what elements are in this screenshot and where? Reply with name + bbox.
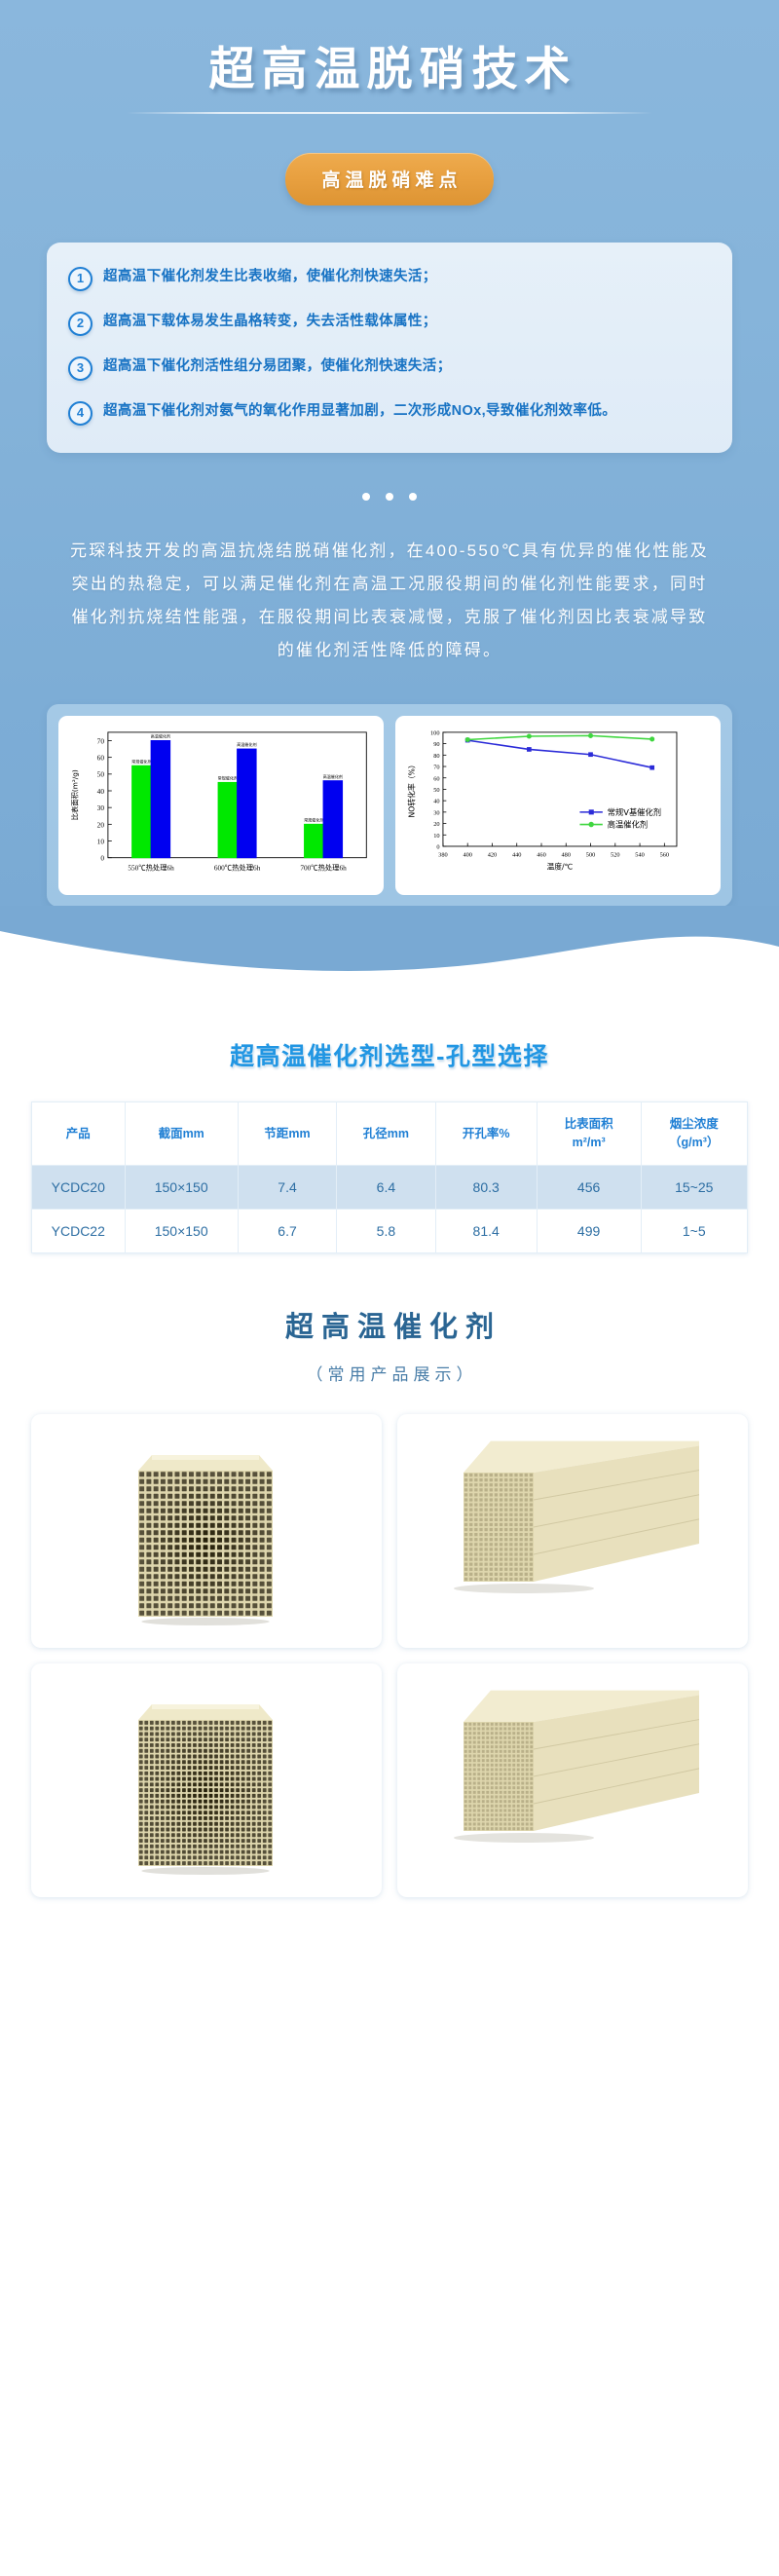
svg-text:高温催化剂: 高温催化剂 xyxy=(151,733,170,739)
product-image-card[interactable] xyxy=(397,1663,748,1897)
spec-table: 产品 截面mm 节距mm 孔径mm 开孔率% xyxy=(31,1101,748,1253)
infographic-page: 超高温脱硝技术 高温脱硝难点 1 超高温下催化剂发生比表收缩，使催化剂快速失活；… xyxy=(0,0,779,1897)
list-item-label: 超高温下载体易发生晶格转变，失去活性载体属性； xyxy=(103,311,437,333)
table-row[interactable]: YCDC20 150×150 7.4 6.4 80.3 456 15~25 xyxy=(32,1165,748,1209)
specific-surface-area-bar-chart: 010203040506070比表面积(m²/g)常规催化剂高温催化剂550℃热… xyxy=(64,724,378,889)
svg-text:10: 10 xyxy=(97,838,105,846)
svg-text:30: 30 xyxy=(433,810,439,817)
header-line: 比表面积 xyxy=(539,1115,639,1134)
spec-table-wrap: 产品 截面mm 节距mm 孔径mm 开孔率% xyxy=(31,1101,748,1253)
list-item-label: 超高温下催化剂发生比表收缩，使催化剂快速失活； xyxy=(103,266,437,288)
table-cell: 6.7 xyxy=(238,1209,336,1252)
svg-text:550℃热处理6h: 550℃热处理6h xyxy=(128,864,174,873)
svg-text:70: 70 xyxy=(97,737,105,746)
section-badge[interactable]: 高温脱硝难点 xyxy=(285,153,493,205)
dots-separator xyxy=(29,488,750,505)
lead-paragraph: 元琛科技开发的高温抗烧结脱硝催化剂，在400-550℃具有优异的催化性能及突出的… xyxy=(68,535,711,667)
svg-text:常规催化剂: 常规催化剂 xyxy=(218,775,238,781)
svg-text:高温催化剂: 高温催化剂 xyxy=(323,773,343,779)
spec-section: 超高温催化剂选型-孔型选择 产品 截面mm 节距mm xyxy=(0,998,779,1897)
table-header-cell: 截面mm xyxy=(125,1102,238,1166)
header-line: 产品 xyxy=(34,1125,123,1143)
list-item-number: 1 xyxy=(68,267,93,291)
product-section-title: 超高温催化剂 xyxy=(0,1304,779,1345)
table-cell: 5.8 xyxy=(337,1209,435,1252)
table-body: YCDC20 150×150 7.4 6.4 80.3 456 15~25 YC… xyxy=(32,1165,748,1252)
svg-text:100: 100 xyxy=(430,730,440,737)
table-header-cell: 烟尘浓度 （g/m³） xyxy=(641,1102,748,1166)
dot-icon xyxy=(409,493,417,501)
svg-text:80: 80 xyxy=(433,753,439,760)
svg-text:比表面积(m²/g): 比表面积(m²/g) xyxy=(71,769,80,820)
table-head: 产品 截面mm 节距mm 孔径mm 开孔率% xyxy=(32,1102,748,1166)
list-item-number: 4 xyxy=(68,401,93,426)
svg-text:40: 40 xyxy=(433,799,439,805)
svg-text:600℃热处理6h: 600℃热处理6h xyxy=(214,864,261,873)
svg-text:常规催化剂: 常规催化剂 xyxy=(304,817,323,823)
dot-icon xyxy=(362,493,370,501)
svg-text:400: 400 xyxy=(463,852,472,859)
svg-text:60: 60 xyxy=(97,754,105,763)
header-line: 截面mm xyxy=(128,1125,236,1143)
product-image-card[interactable] xyxy=(397,1414,748,1648)
table-cell: 80.3 xyxy=(435,1165,537,1209)
dot-icon xyxy=(386,493,393,501)
svg-text:460: 460 xyxy=(537,852,546,859)
list-item: 1 超高温下催化剂发生比表收缩，使催化剂快速失活； xyxy=(68,266,711,291)
svg-text:0: 0 xyxy=(436,844,439,851)
header-line: 孔径mm xyxy=(339,1125,432,1143)
product-grid xyxy=(31,1414,748,1897)
table-header-cell: 产品 xyxy=(32,1102,126,1166)
product-image-card[interactable] xyxy=(31,1663,382,1897)
svg-text:NO转化率（%）: NO转化率（%） xyxy=(407,762,417,818)
table-cell: 6.4 xyxy=(337,1165,435,1209)
svg-text:常规催化剂: 常规催化剂 xyxy=(131,759,151,765)
difficulty-list-card: 1 超高温下催化剂发生比表收缩，使催化剂快速失活； 2 超高温下载体易发生晶格转… xyxy=(47,243,732,453)
svg-text:480: 480 xyxy=(562,852,572,859)
table-cell: YCDC22 xyxy=(32,1209,126,1252)
svg-text:30: 30 xyxy=(97,803,105,812)
svg-text:700℃热处理6h: 700℃热处理6h xyxy=(300,864,347,873)
header-line: m²/m³ xyxy=(539,1134,639,1152)
list-item-number: 3 xyxy=(68,356,93,381)
honeycomb-angled-icon xyxy=(446,1434,699,1628)
table-header-cell: 比表面积 m²/m³ xyxy=(537,1102,641,1166)
honeycomb-front-icon xyxy=(109,1675,304,1885)
svg-text:520: 520 xyxy=(611,852,620,859)
svg-text:10: 10 xyxy=(433,833,439,840)
svg-text:70: 70 xyxy=(433,765,439,771)
svg-text:40: 40 xyxy=(97,787,105,796)
svg-text:0: 0 xyxy=(100,854,104,863)
svg-text:高温催化剂: 高温催化剂 xyxy=(237,741,256,747)
svg-text:温度/℃: 温度/℃ xyxy=(546,862,573,872)
list-item: 3 超高温下催化剂活性组分易团聚，使催化剂快速失活； xyxy=(68,355,711,381)
wave-divider xyxy=(0,906,779,998)
svg-text:50: 50 xyxy=(433,787,439,794)
spec-section-title: 超高温催化剂选型-孔型选择 xyxy=(0,1037,779,1072)
product-image-card[interactable] xyxy=(31,1414,382,1648)
table-row[interactable]: YCDC22 150×150 6.7 5.8 81.4 499 1~5 xyxy=(32,1209,748,1252)
table-header-cell: 开孔率% xyxy=(435,1102,537,1166)
list-item-label: 超高温下催化剂活性组分易团聚，使催化剂快速失活； xyxy=(103,355,452,378)
table-header-row: 产品 截面mm 节距mm 孔径mm 开孔率% xyxy=(32,1102,748,1166)
title-underline-rule xyxy=(127,112,652,114)
no-conversion-line-chart: 0102030405060708090100380400420440460480… xyxy=(401,724,715,889)
svg-text:90: 90 xyxy=(433,741,439,748)
svg-text:440: 440 xyxy=(512,852,522,859)
badge-container: 高温脱硝难点 xyxy=(29,153,750,205)
table-cell: 150×150 xyxy=(125,1209,238,1252)
list-item-label: 超高温下催化剂对氨气的氧化作用显著加剧，二次形成NOx,导致催化剂效率低。 xyxy=(103,400,616,423)
table-cell: YCDC20 xyxy=(32,1165,126,1209)
svg-text:560: 560 xyxy=(660,852,670,859)
table-cell: 15~25 xyxy=(641,1165,748,1209)
header-line: 烟尘浓度 xyxy=(644,1115,746,1134)
svg-text:500: 500 xyxy=(586,852,596,859)
list-item-number: 2 xyxy=(68,312,93,336)
table-cell: 499 xyxy=(537,1209,641,1252)
header-line: 节距mm xyxy=(241,1125,334,1143)
product-section-subtitle: （常用产品展示） xyxy=(0,1361,779,1385)
table-cell: 1~5 xyxy=(641,1209,748,1252)
svg-text:常规V基催化剂: 常规V基催化剂 xyxy=(608,807,661,817)
svg-text:20: 20 xyxy=(433,821,439,828)
svg-text:高温催化剂: 高温催化剂 xyxy=(608,820,648,830)
bar-chart-card: 010203040506070比表面积(m²/g)常规催化剂高温催化剂550℃热… xyxy=(58,716,384,895)
honeycomb-front-icon xyxy=(109,1426,304,1635)
list-item: 2 超高温下载体易发生晶格转变，失去活性载体属性； xyxy=(68,311,711,336)
table-header-cell: 节距mm xyxy=(238,1102,336,1166)
svg-text:420: 420 xyxy=(488,852,498,859)
line-chart-card: 0102030405060708090100380400420440460480… xyxy=(395,716,721,895)
svg-text:50: 50 xyxy=(97,770,105,779)
table-cell: 150×150 xyxy=(125,1165,238,1209)
table-cell: 81.4 xyxy=(435,1209,537,1252)
svg-text:20: 20 xyxy=(97,821,105,830)
hero-section: 超高温脱硝技术 高温脱硝难点 1 超高温下催化剂发生比表收缩，使催化剂快速失活；… xyxy=(0,0,779,998)
charts-panel: 010203040506070比表面积(m²/g)常规催化剂高温催化剂550℃热… xyxy=(47,704,732,907)
page-title: 超高温脱硝技术 xyxy=(29,41,750,96)
header-line: 开孔率% xyxy=(438,1125,535,1143)
table-cell: 456 xyxy=(537,1165,641,1209)
table-header-cell: 孔径mm xyxy=(337,1102,435,1166)
list-item: 4 超高温下催化剂对氨气的氧化作用显著加剧，二次形成NOx,导致催化剂效率低。 xyxy=(68,400,711,426)
honeycomb-angled-icon xyxy=(446,1683,699,1878)
svg-text:540: 540 xyxy=(635,852,645,859)
table-cell: 7.4 xyxy=(238,1165,336,1209)
svg-text:60: 60 xyxy=(433,776,439,783)
header-line: （g/m³） xyxy=(644,1134,746,1152)
svg-text:380: 380 xyxy=(438,852,448,859)
